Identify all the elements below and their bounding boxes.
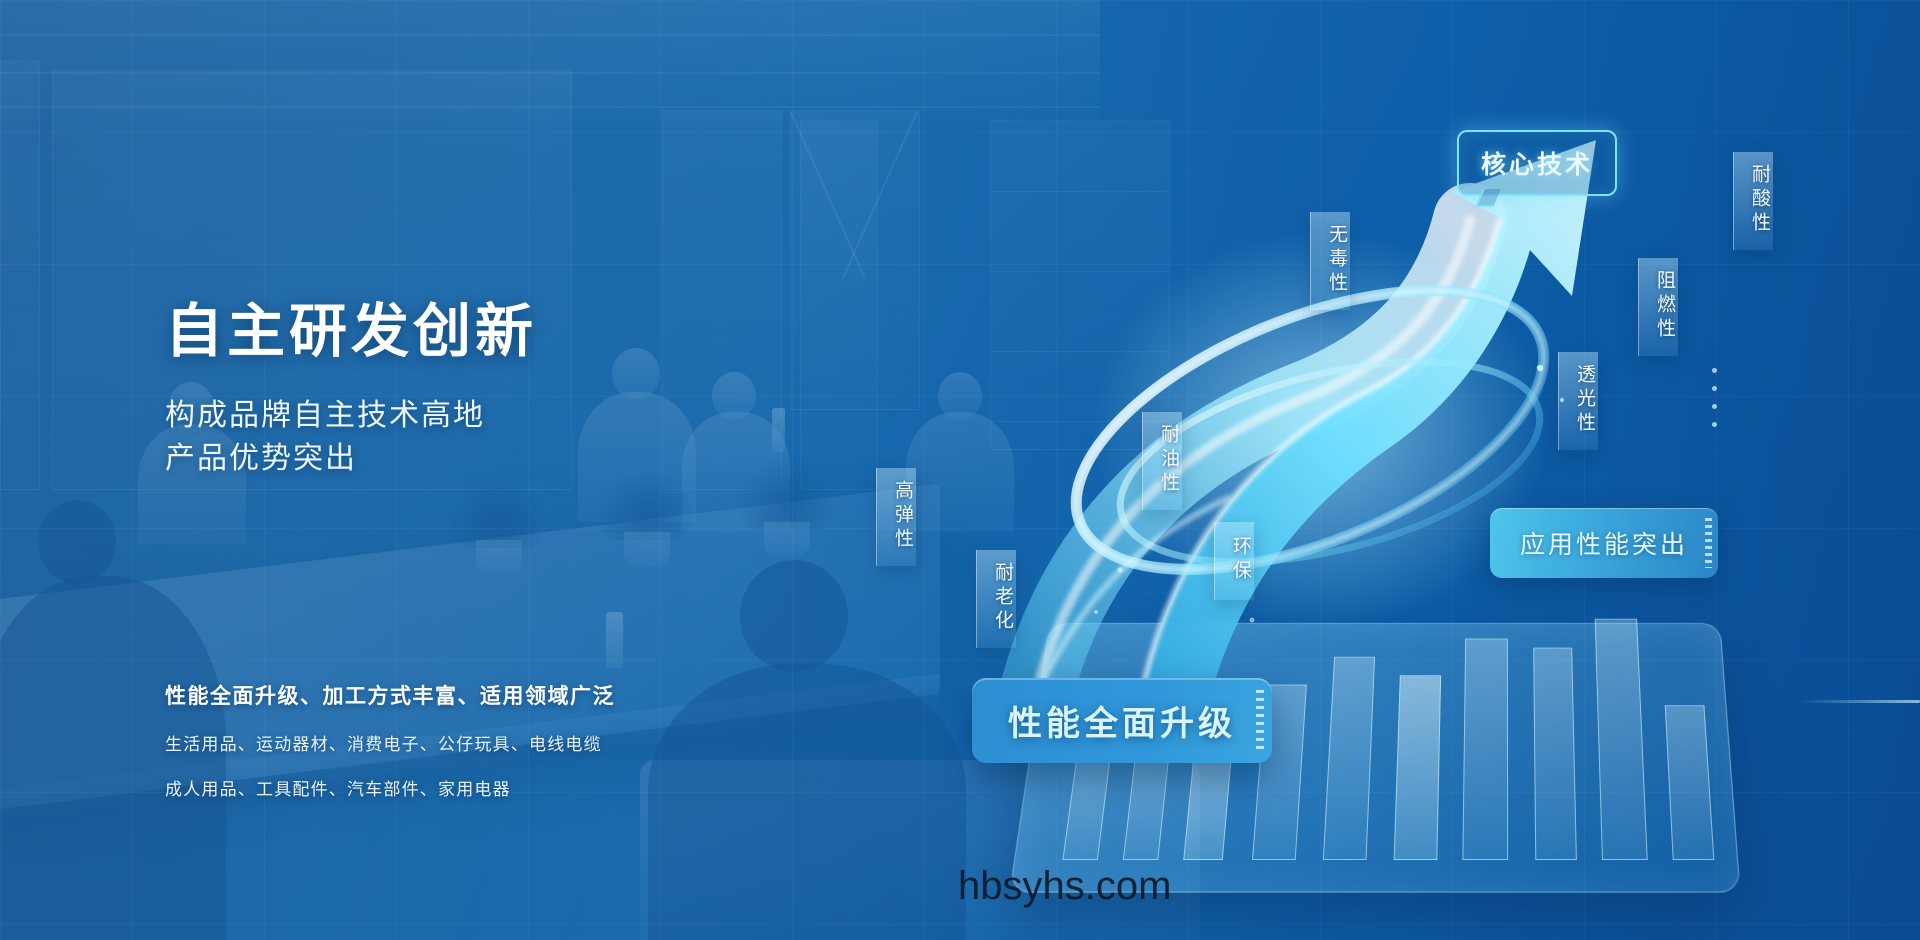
- feature-block: 性能全面升级、加工方式丰富、适用领域广泛 生活用品、运动器材、消费电子、公仔玩具…: [165, 680, 615, 800]
- accent-dot: [1712, 422, 1717, 427]
- hero-banner: 自主研发创新 构成品牌自主技术高地 产品优势突出 性能全面升级、加工方式丰富、适…: [0, 0, 1920, 940]
- application-performance-button[interactable]: 应用性能突出: [1490, 508, 1718, 578]
- tag-acid-resistant[interactable]: 耐酸性: [1733, 152, 1773, 250]
- tag-flame-retardant[interactable]: 阻燃性: [1638, 258, 1678, 356]
- feature-line-2: 成人用品、工具配件、汽车部件、家用电器: [165, 775, 615, 800]
- accent-dot: [1712, 404, 1717, 409]
- performance-upgrade-banner[interactable]: 性能全面升级: [972, 678, 1272, 763]
- accent-line: [1800, 700, 1920, 703]
- feature-heading: 性能全面升级、加工方式丰富、适用领域广泛: [165, 680, 615, 710]
- page-title: 自主研发创新: [165, 300, 725, 364]
- accent-dot: [1712, 386, 1717, 391]
- subtitle-line-1: 构成品牌自主技术高地: [165, 394, 725, 438]
- tag-light-transmittance[interactable]: 透光性: [1558, 352, 1598, 450]
- core-technology-bubble[interactable]: 核心技术: [1457, 130, 1617, 196]
- tag-anti-aging[interactable]: 耐老化: [976, 550, 1016, 648]
- growth-arrow-graphic: [1000, 100, 1760, 760]
- tag-non-toxic[interactable]: 无毒性: [1310, 212, 1350, 310]
- subtitle-line-2: 产品优势突出: [165, 437, 725, 481]
- accent-dot: [1712, 368, 1717, 373]
- tag-oil-resistant[interactable]: 耐油性: [1142, 412, 1182, 510]
- feature-line-1: 生活用品、运动器材、消费电子、公仔玩具、电线电缆: [165, 730, 615, 755]
- tag-high-elasticity[interactable]: 高弹性: [876, 468, 916, 566]
- tag-eco-friendly[interactable]: 环保: [1214, 522, 1254, 600]
- site-watermark: hbsyhs.com: [958, 864, 1171, 909]
- headline-block: 自主研发创新 构成品牌自主技术高地 产品优势突出: [165, 300, 725, 481]
